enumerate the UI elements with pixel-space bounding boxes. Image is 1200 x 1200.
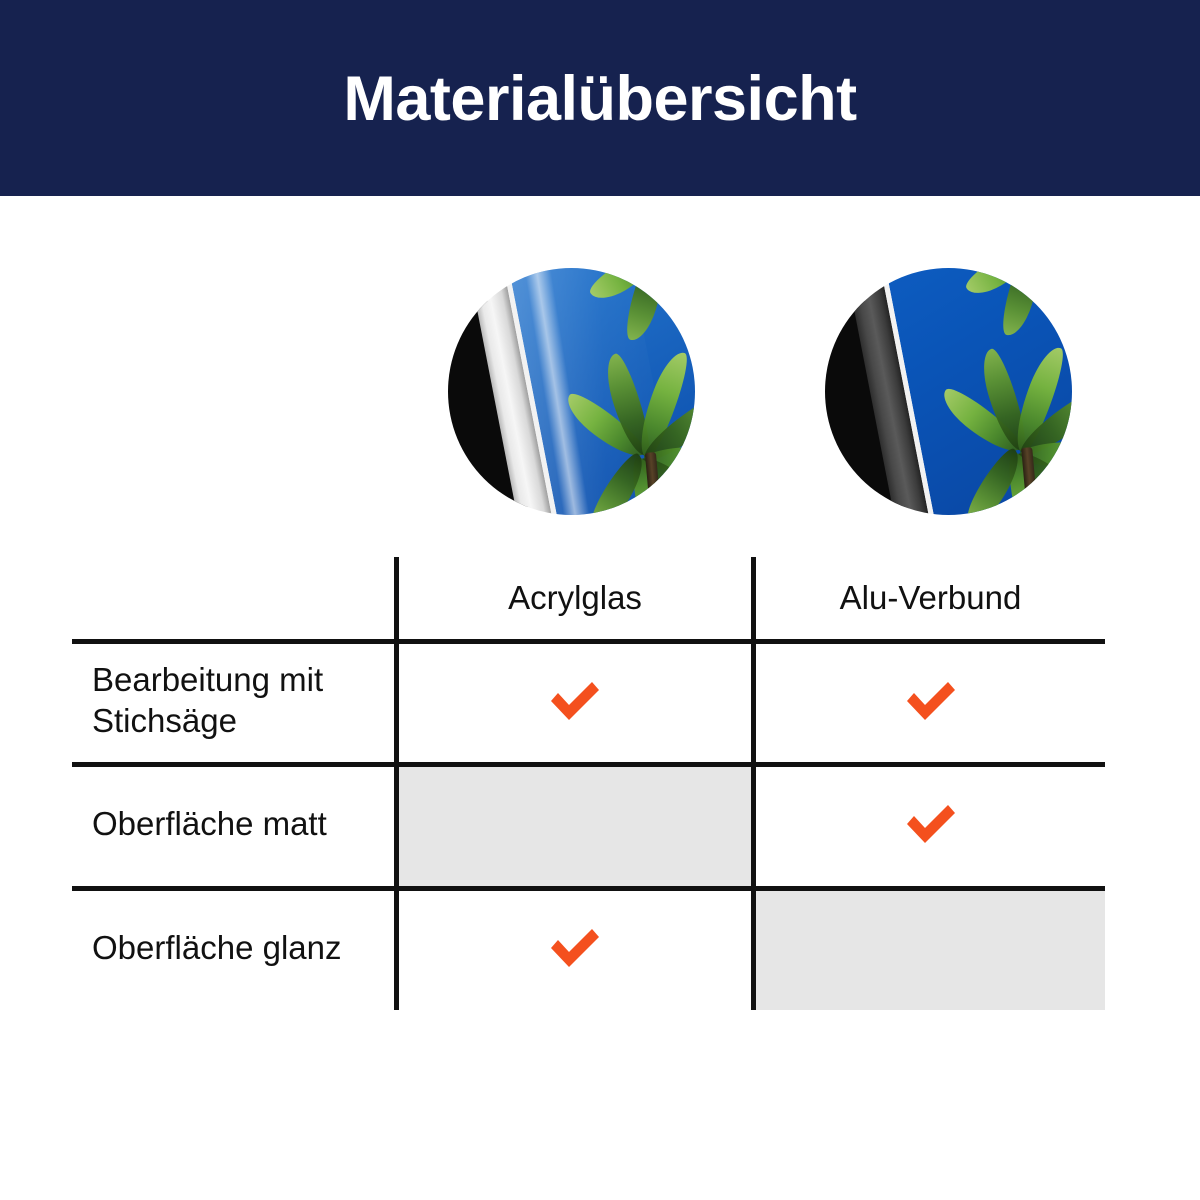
cell-alu-verbund-glanz — [756, 886, 1105, 1010]
row-label-bearbeitung-stichsaege: Bearbeitung mit Stichsäge — [92, 639, 392, 762]
page-title: Materialübersicht — [343, 68, 856, 131]
row-label-line: Oberfläche matt — [92, 804, 327, 844]
cell-acrylglas-glanz — [399, 886, 751, 1010]
cell-alu-verbund-matt — [756, 762, 1105, 886]
acrylglas-panel — [448, 268, 695, 515]
cell-acrylglas-bearbeitung — [399, 639, 751, 762]
material-comparison-table: Acrylglas Alu-Verbund Bearbeitung mit St… — [72, 557, 1105, 1010]
check-mark-icon — [902, 679, 960, 723]
cell-acrylglas-matt — [399, 762, 751, 886]
check-mark-icon — [902, 802, 960, 846]
column-header-acrylglas: Acrylglas — [399, 557, 751, 639]
cell-alu-verbund-bearbeitung — [756, 639, 1105, 762]
row-label-oberflaeche-matt: Oberfläche matt — [92, 762, 392, 886]
row-label-line: Oberfläche glanz — [92, 928, 341, 968]
product-image-alu-verbund[interactable] — [825, 268, 1072, 515]
check-mark-icon — [546, 926, 604, 970]
page-header: Materialübersicht — [0, 0, 1200, 196]
check-mark-icon — [546, 679, 604, 723]
row-label-oberflaeche-glanz: Oberfläche glanz — [92, 886, 392, 1010]
product-image-acrylglas[interactable] — [448, 268, 695, 515]
column-header-alu-verbund: Alu-Verbund — [756, 557, 1105, 639]
alu-verbund-panel — [825, 268, 1072, 515]
row-label-line: Bearbeitung mit — [92, 661, 323, 698]
row-label-line: Stichsäge — [92, 702, 237, 739]
